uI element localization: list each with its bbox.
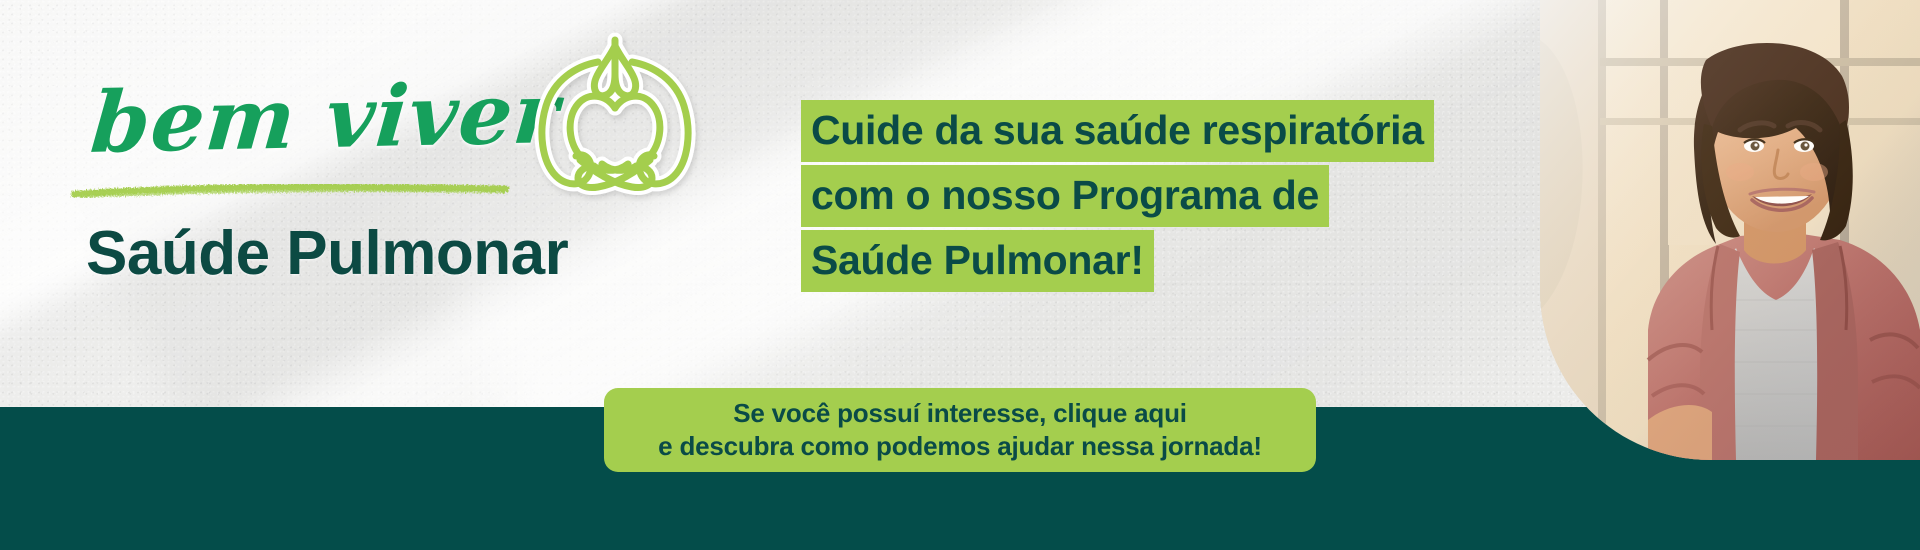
cta-line-1: Se você possuí interesse, clique aqui (733, 397, 1187, 430)
headline-line-1: Cuide da sua saúde respiratória (801, 100, 1434, 162)
promo-banner: bem viver Saúde Pulmonar (0, 0, 1920, 550)
headline-line-3: Saúde Pulmonar! (801, 230, 1154, 292)
headline-line-2: com o nosso Programa de (801, 165, 1329, 227)
lungs-icon (520, 22, 710, 202)
brand-subtitle: Saúde Pulmonar (86, 218, 568, 289)
model-photo (1540, 0, 1920, 460)
brand-logo: bem viver Saúde Pulmonar (70, 40, 690, 270)
brush-underline (70, 182, 510, 200)
cta-button[interactable]: Se você possuí interesse, clique aqui e … (604, 388, 1316, 472)
brand-script-wordmark: bem viver (87, 63, 563, 172)
headline: Cuide da sua saúde respiratória com o no… (801, 100, 1421, 295)
cta-line-2: e descubra como podemos ajudar nessa jor… (658, 430, 1262, 463)
